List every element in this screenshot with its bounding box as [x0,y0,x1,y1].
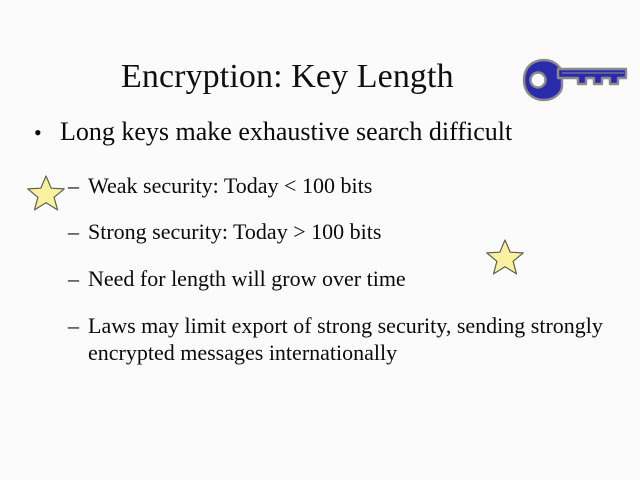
bullet-level2-item-strong: –Strong security: Today > 100 bits [68,218,628,245]
dash-marker-icon: – [68,218,88,245]
bullet-level2-text-laws-line1: Laws may limit export of strong security… [88,313,525,338]
bullet-level2-text-grow: Need for length will grow over time [88,266,406,291]
bullet-level2-item-grow: –Need for length will grow over time [68,265,628,292]
slide-body: •Long keys make exhaustive search diffic… [0,0,640,480]
star-icon-left [27,175,65,211]
slide: Encryption: Key Length •Long keys make e… [0,0,640,480]
dash-marker-icon: – [68,172,88,199]
star-icon-right [486,239,524,275]
bullet-level1-text: Long keys make exhaustive search difficu… [60,117,512,146]
dash-marker-icon: – [68,265,88,292]
dash-marker-icon: – [68,312,88,339]
bullet-marker-icon: • [34,117,60,148]
bullet-level2-item-weak: –Weak security: Today < 100 bits [68,172,628,199]
bullet-level2-item-laws: –Laws may limit export of strong securit… [68,312,608,366]
bullet-level2-text-weak: Weak security: Today < 100 bits [88,173,372,198]
bullet-level2-text-strong: Strong security: Today > 100 bits [88,219,381,244]
bullet-level1-item: •Long keys make exhaustive search diffic… [34,116,614,148]
